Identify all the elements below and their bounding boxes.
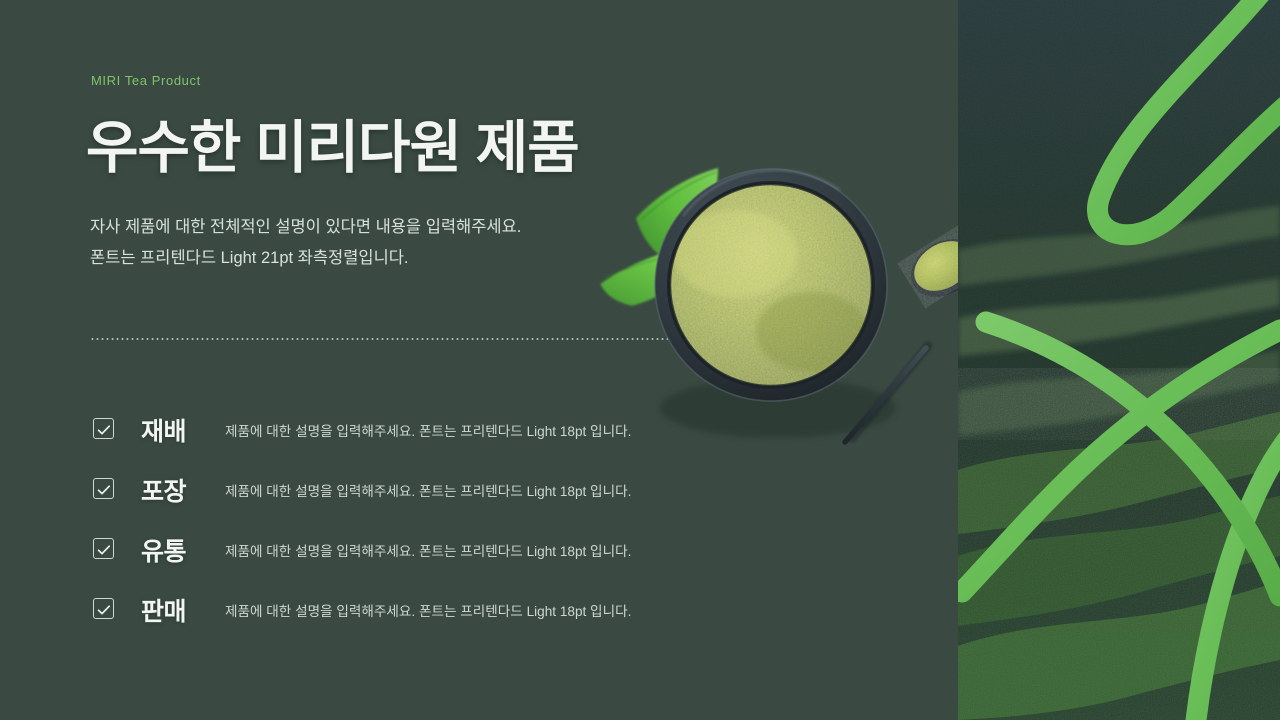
eyebrow-label: MIRI Tea Product: [91, 73, 201, 88]
list-item-label: 포장: [141, 472, 186, 508]
list-item-label: 유통: [141, 532, 186, 568]
list-item-description: 제품에 대한 설명을 입력해주세요. 폰트는 프리텐다드 Light 18pt …: [225, 540, 631, 560]
checkbox-checked-icon[interactable]: [93, 418, 114, 439]
checkbox-checked-icon[interactable]: [93, 538, 114, 559]
list-item[interactable]: 유통 제품에 대한 설명을 입력해주세요. 폰트는 프리텐다드 Light 18…: [90, 529, 690, 589]
list-item-label: 재배: [141, 412, 186, 448]
checkbox-checked-icon[interactable]: [93, 478, 114, 499]
lede-line-2: 폰트는 프리텐다드 Light 21pt 좌측정렬입니다.: [90, 243, 521, 274]
tea-field-photo: [958, 0, 1280, 720]
lede-line-1: 자사 제품에 대한 전체적인 설명이 있다면 내용을 입력해주세요.: [90, 212, 521, 243]
list-item-description: 제품에 대한 설명을 입력해주세요. 폰트는 프리텐다드 Light 18pt …: [225, 600, 631, 620]
slide: MIRI Tea Product 우수한 미리다원 제품 자사 제품에 대한 전…: [0, 0, 1280, 720]
list-item-label: 판매: [141, 592, 186, 628]
lede-paragraph: 자사 제품에 대한 전체적인 설명이 있다면 내용을 입력해주세요. 폰트는 프…: [90, 212, 521, 274]
checkbox-checked-icon[interactable]: [93, 598, 114, 619]
list-item[interactable]: 판매 제품에 대한 설명을 입력해주세요. 폰트는 프리텐다드 Light 18…: [90, 589, 690, 649]
page-title: 우수한 미리다원 제품: [86, 102, 579, 184]
matcha-bowl-photo: [540, 150, 1000, 490]
